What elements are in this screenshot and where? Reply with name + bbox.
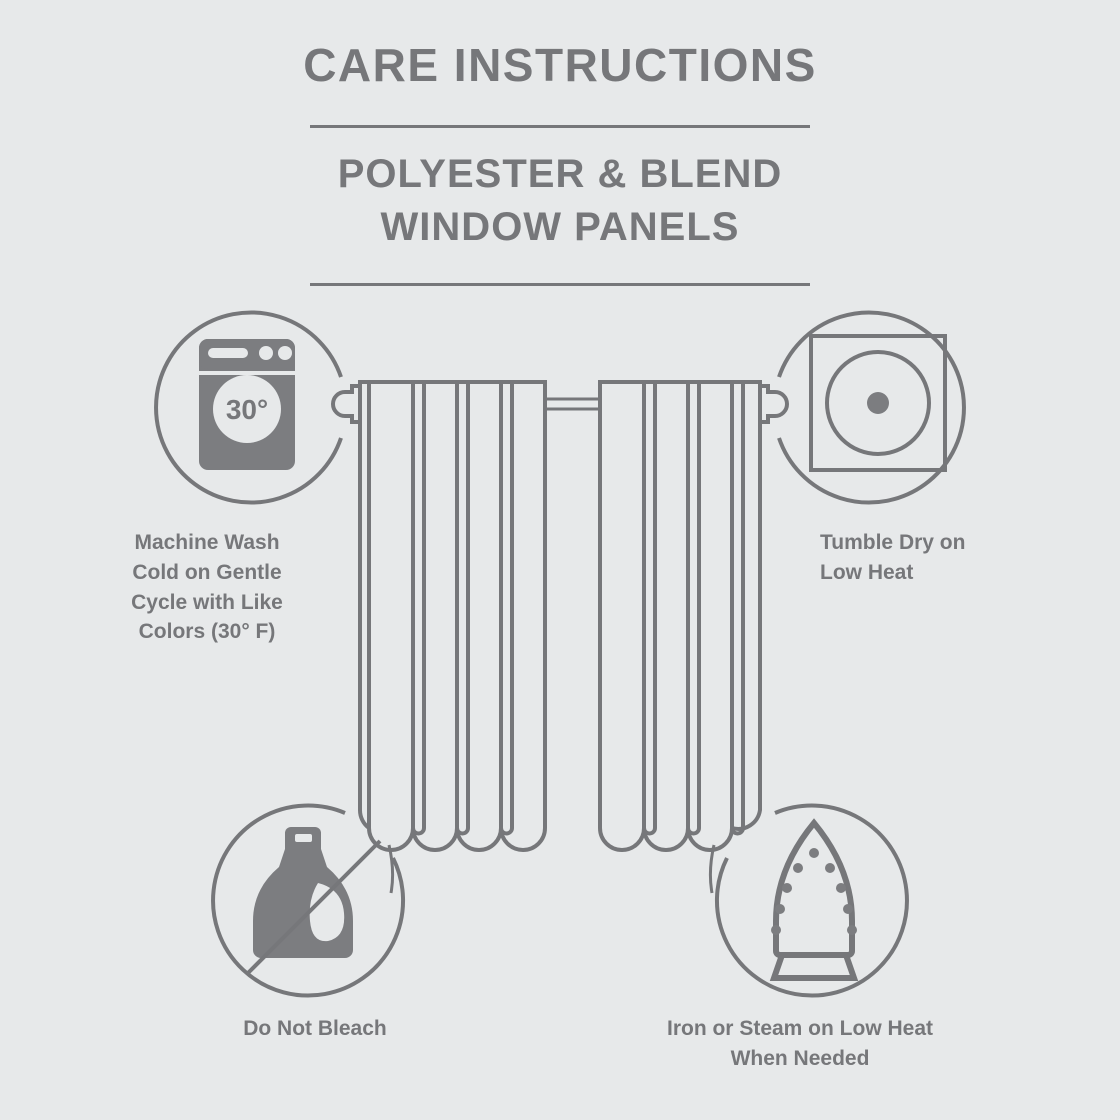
iron-base xyxy=(774,955,854,978)
icon-tumble-dry xyxy=(779,313,964,503)
iron-steam-holes xyxy=(771,848,857,935)
icon-do-not-bleach xyxy=(213,806,403,996)
caption-machine-wash: Machine Wash Cold on Gentle Cycle with L… xyxy=(78,528,336,647)
wash-temp-badge: 30° xyxy=(226,394,268,425)
bleach-bottle-icon xyxy=(253,827,353,958)
icon-machine-wash: 30° xyxy=(156,313,341,503)
tumble-dry-icon xyxy=(811,336,945,470)
caption-do-not-bleach: Do Not Bleach xyxy=(185,1014,445,1044)
iron-icon xyxy=(771,823,857,978)
washer-dial-1 xyxy=(259,346,273,360)
caption-iron: Iron or Steam on Low Heat When Needed xyxy=(600,1014,1000,1074)
rod-finial-left xyxy=(333,386,360,422)
curtain-rod xyxy=(545,399,600,409)
dryer-low-heat-dot xyxy=(867,392,889,414)
curtain-panel-right xyxy=(600,382,760,893)
icon-iron xyxy=(717,806,907,996)
rod-finial-right xyxy=(760,386,787,422)
caption-tumble-dry: Tumble Dry on Low Heat xyxy=(820,528,1080,588)
circle-frame-iron xyxy=(717,806,907,996)
washer-control-slot xyxy=(208,348,248,358)
care-instructions-graphic: CARE INSTRUCTIONS POLYESTER & BLEND WIND… xyxy=(0,0,1120,1120)
washer-dial-2 xyxy=(278,346,292,360)
curtain-illustration xyxy=(333,382,787,893)
bottle-handle-cutout xyxy=(295,834,312,842)
curtain-panel-left xyxy=(360,382,545,893)
